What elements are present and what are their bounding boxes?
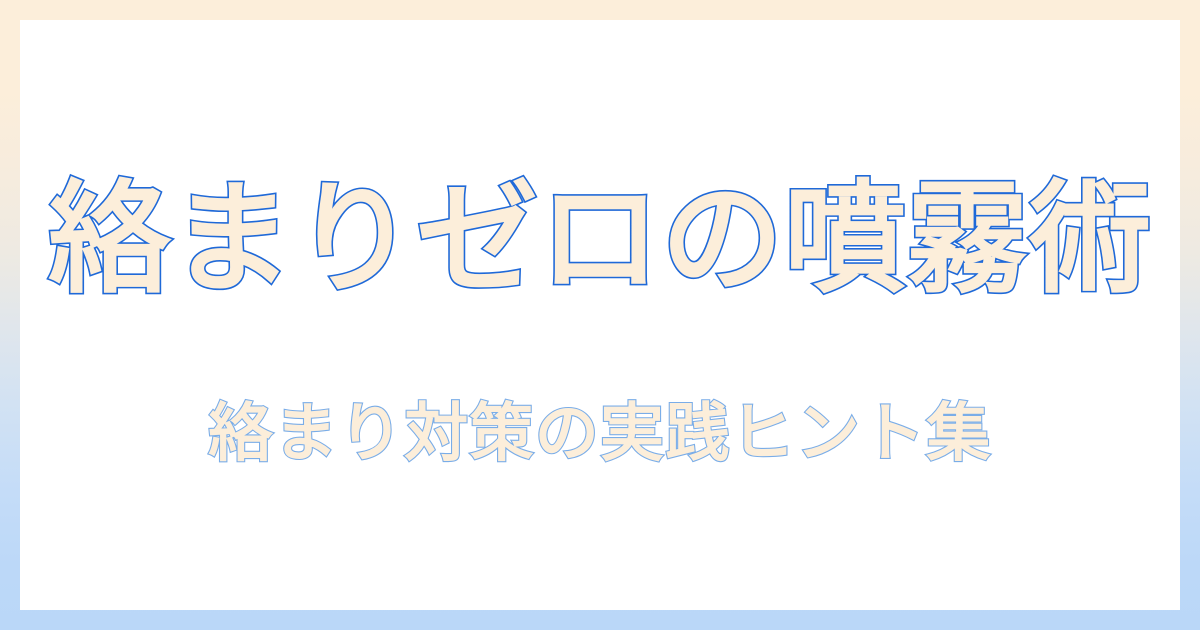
headline-container: 絡まりゼロの噴霧術 — [20, 178, 1180, 300]
content-card: 絡まりゼロの噴霧術 絡まり対策の実践ヒント集 — [20, 20, 1180, 610]
subline-container: 絡まり対策の実践ヒント集 — [20, 402, 1180, 466]
poster-headline: 絡まりゼロの噴霧術 — [48, 178, 1152, 300]
poster-subline: 絡まり対策の実践ヒント集 — [208, 402, 991, 466]
poster-canvas: 絡まりゼロの噴霧術 絡まり対策の実践ヒント集 — [0, 0, 1200, 630]
